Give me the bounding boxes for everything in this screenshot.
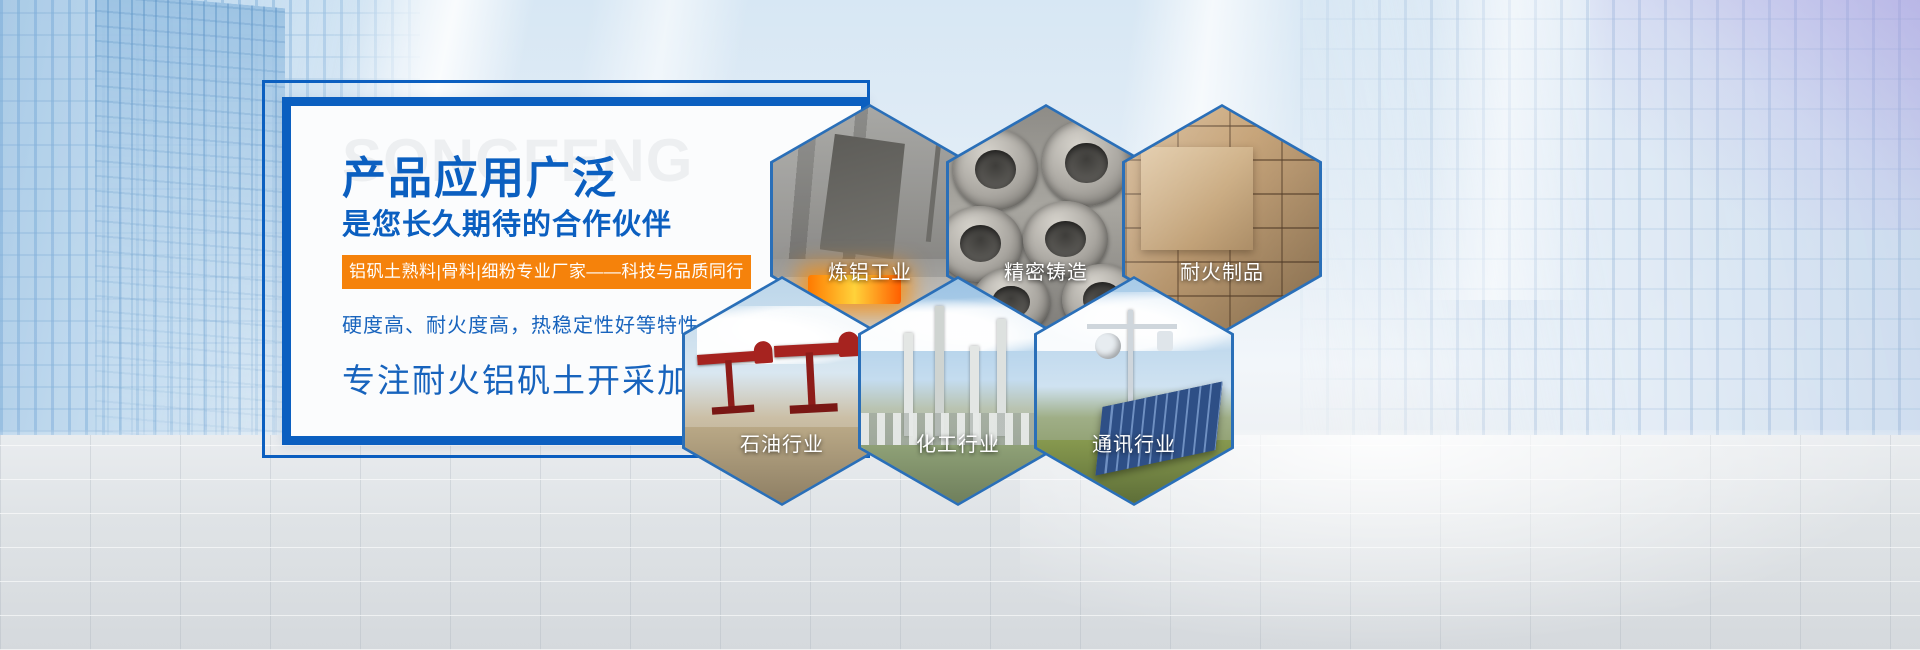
hexagon-label: 化工行业: [861, 428, 1055, 457]
hexagon-label: 炼铝工业: [773, 256, 967, 285]
banner-headline: 产品应用广泛: [342, 142, 618, 206]
hexagon-label: 精密铸造: [949, 256, 1143, 285]
promotional-banner: SONGFENG 产品应用广泛 是您长久期待的合作伙伴 铝矾土熟料|骨料|细粉专…: [0, 0, 1920, 650]
industry-hexagon-cluster: 炼铝工业 精密铸造 耐火制品: [660, 78, 1360, 558]
feature-description: 硬度高、耐火度高，热稳定性好等特性: [342, 309, 699, 338]
hexagon-label: 耐火制品: [1125, 256, 1319, 285]
banner-subheadline: 是您长久期待的合作伙伴: [342, 201, 672, 243]
hexagon-label: 石油行业: [685, 428, 879, 457]
hexagon-label: 通讯行业: [1037, 428, 1231, 457]
